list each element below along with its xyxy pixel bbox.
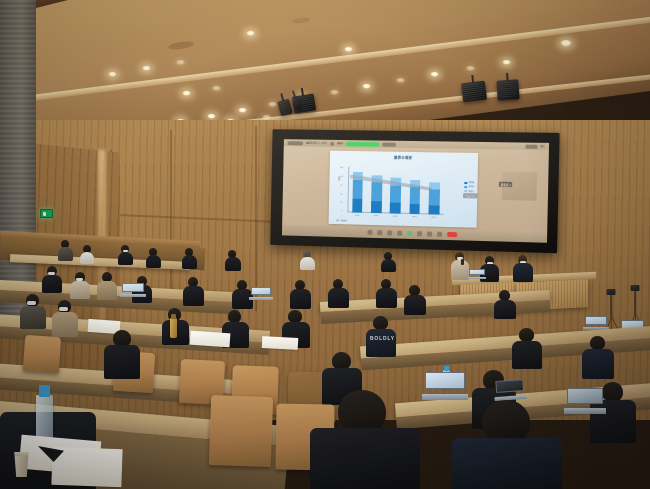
panelist <box>513 255 533 282</box>
ceiling-light <box>108 72 117 77</box>
stage-laptop <box>469 269 485 279</box>
lecture-hall-photo: 画面を共有しています 録画中 表示 業界の現状 100 80 60 <box>0 0 650 489</box>
attendee-laptop[interactable] <box>585 316 607 330</box>
seat-back-foreground[interactable] <box>209 395 273 467</box>
attendee-body <box>328 288 349 308</box>
laptop-base <box>564 408 606 414</box>
x-tick: 2021 <box>412 216 417 218</box>
topbar-meeting-label: 画面を共有しています <box>306 141 327 145</box>
bar-group <box>371 167 382 213</box>
bar-group <box>409 168 421 214</box>
x-tick: 2022 <box>431 216 436 218</box>
chart-legend: 区分A 区分B 区分C <box>464 181 474 193</box>
attendee-body <box>182 255 197 269</box>
wall-seam <box>170 130 172 300</box>
tea-bottle <box>170 318 177 338</box>
ceiling-speaker <box>496 79 519 100</box>
attendee-head <box>373 316 388 330</box>
ceiling-light <box>207 114 216 119</box>
bottle-cap <box>39 385 51 397</box>
attendee-body <box>52 312 78 337</box>
topbar-view-label: 表示 <box>540 144 545 148</box>
topbar-recording-label: 録画中 <box>337 141 343 145</box>
attendee <box>42 266 62 292</box>
conference-toolbar[interactable] <box>282 225 547 243</box>
screen-surface: 画面を共有しています 録画中 表示 業界の現状 100 80 60 <box>282 139 549 243</box>
y-tick: 0 <box>341 211 342 213</box>
attendee-body <box>97 281 117 300</box>
ceiling-light <box>268 102 277 107</box>
attendee <box>58 240 73 260</box>
attendee <box>328 279 349 307</box>
attendee-laptop[interactable] <box>495 379 524 401</box>
bottle-cap <box>171 314 176 319</box>
attendee-body <box>582 349 614 379</box>
ceiling-light <box>142 66 151 71</box>
face-mask <box>27 301 36 305</box>
ceiling-light <box>246 31 255 36</box>
attendee-foreground <box>310 390 420 489</box>
exit-sign <box>40 209 53 218</box>
topbar-extra-pill <box>383 142 397 146</box>
attendee <box>225 250 241 270</box>
ceiling-light <box>430 72 439 77</box>
attendee-head <box>519 328 534 342</box>
attendee-head <box>602 382 623 402</box>
bar-group <box>390 168 402 214</box>
attendee <box>183 277 204 305</box>
topbar-status-pill <box>288 141 303 145</box>
presenter <box>451 252 469 280</box>
share-screen-icon[interactable] <box>407 231 412 236</box>
presenter-body <box>451 260 469 280</box>
y-tick: 60 <box>341 184 343 186</box>
attendee <box>404 285 426 314</box>
seat-back[interactable] <box>23 335 61 373</box>
laptop-screen <box>469 269 485 275</box>
attendee-body <box>452 438 562 489</box>
attendee <box>300 250 315 269</box>
attendee-laptop[interactable] <box>567 388 603 414</box>
laptop-base <box>468 277 487 279</box>
water-bottle-foreground <box>36 395 53 441</box>
shared-slide: 業界の現状 100 80 60 40 20 0 件数 <box>328 150 478 227</box>
projection-screen[interactable]: 画面を共有しています 録画中 表示 業界の現状 100 80 60 <box>270 129 559 253</box>
attendee <box>182 248 197 268</box>
apparel-text: BOLDLY <box>370 336 395 342</box>
ceiling-light <box>560 40 572 47</box>
camera-head <box>607 289 616 295</box>
attendee-body <box>104 345 140 379</box>
laptop-screen <box>585 316 607 325</box>
chart-bars <box>348 167 445 215</box>
attendee <box>20 294 46 328</box>
reactions-icon[interactable] <box>427 231 432 236</box>
laptop-base <box>249 297 272 300</box>
ceiling-light <box>396 78 405 83</box>
attendee-body <box>404 295 426 315</box>
face-mask <box>59 307 68 311</box>
ceiling-light <box>362 84 371 89</box>
microphone-icon <box>461 259 464 265</box>
slide-footnote: 出典：調査資料 <box>336 220 469 225</box>
attendee-body <box>310 428 420 489</box>
ceiling-light <box>238 108 247 113</box>
topbar-icon-pill <box>330 141 334 145</box>
laptop-screen <box>425 372 465 389</box>
attendee <box>290 280 311 308</box>
attendee-body <box>80 252 94 264</box>
y-tick: 100 <box>340 167 343 169</box>
attendee-body <box>20 306 46 329</box>
wall-seam <box>255 126 257 311</box>
legend-entry: 区分B <box>464 186 474 189</box>
ceiling-light <box>344 47 353 52</box>
record-icon[interactable] <box>417 231 422 236</box>
x-tick: 2018 <box>355 214 360 216</box>
mic-icon[interactable] <box>367 230 372 235</box>
bar-chart: 100 80 60 40 20 0 件数 <box>348 167 445 215</box>
conference-topbar[interactable]: 画面を共有しています 録画中 表示 <box>284 139 549 150</box>
x-tick: 2019 <box>374 215 379 217</box>
attendee <box>70 272 90 298</box>
bar-group <box>352 167 363 213</box>
share-active-indicator <box>346 142 379 146</box>
legend-entry: 区分A <box>465 181 475 184</box>
participant-mute-label: ミュート <box>463 193 477 199</box>
attendee-body <box>146 255 161 268</box>
attendee-body <box>225 257 241 271</box>
leave-meeting-button[interactable] <box>447 232 457 237</box>
panelist-body <box>513 263 533 282</box>
attendee-laptop[interactable] <box>425 372 465 400</box>
attendee <box>97 272 117 299</box>
attendee <box>582 336 614 378</box>
more-options-icon[interactable] <box>437 232 442 237</box>
laptop-screen <box>567 388 603 404</box>
ceiling-light <box>466 66 475 71</box>
y-tick: 20 <box>340 202 342 204</box>
laptop-screen <box>251 287 271 295</box>
y-tick: 40 <box>340 193 342 195</box>
attendee-body <box>366 329 396 357</box>
attendee <box>381 252 396 271</box>
attendee-body <box>118 252 133 265</box>
attendee-body <box>70 281 90 299</box>
attendee <box>80 245 94 263</box>
laptop-screen <box>495 379 524 393</box>
attendee-body <box>494 300 516 319</box>
attendee <box>376 279 397 307</box>
attendee <box>494 290 516 318</box>
attendee-head <box>590 336 605 350</box>
attendee-body <box>512 341 542 369</box>
attendee <box>52 300 78 336</box>
ceiling-light <box>502 60 511 65</box>
bottle-cap <box>444 366 449 371</box>
chat-icon[interactable] <box>397 231 402 236</box>
y-axis-label: 件数 <box>338 176 341 180</box>
ceiling-speaker <box>461 81 487 103</box>
camera-head <box>631 285 640 291</box>
y-axis-ticks: 100 80 60 40 20 0 <box>339 167 343 213</box>
attendee <box>118 245 133 264</box>
ceiling-light <box>176 60 185 65</box>
handout <box>190 331 231 348</box>
participants-icon[interactable] <box>387 230 392 235</box>
attendee-laptop[interactable] <box>251 287 271 300</box>
attendee <box>232 280 253 308</box>
attendee-body <box>42 275 62 293</box>
attendee-foreground <box>452 400 562 489</box>
attendee <box>512 328 542 368</box>
slide-title: 業界の現状 <box>330 154 478 161</box>
attendee-body <box>376 288 397 308</box>
x-tick: 2020 <box>393 215 398 217</box>
laptop-base <box>120 294 146 297</box>
attendee: BOLDLY <box>366 316 396 356</box>
handout <box>262 336 299 350</box>
attendee-body <box>183 286 204 306</box>
bar-group <box>428 168 440 215</box>
ceiling-light <box>212 86 221 91</box>
topbar-view-pill[interactable] <box>525 144 537 148</box>
ceiling-light <box>330 90 339 95</box>
ceiling-light <box>182 91 191 96</box>
attendee-body <box>58 247 73 261</box>
attendee <box>104 330 140 378</box>
attendee-body <box>300 257 315 270</box>
participant-name-label: 発表者 1 <box>499 182 513 188</box>
attendee <box>146 248 161 267</box>
laptop-screen <box>122 283 144 292</box>
attendee-laptop[interactable] <box>122 283 144 297</box>
video-icon[interactable] <box>377 230 382 235</box>
attendee-body <box>381 259 396 272</box>
attendee-body <box>290 289 311 309</box>
